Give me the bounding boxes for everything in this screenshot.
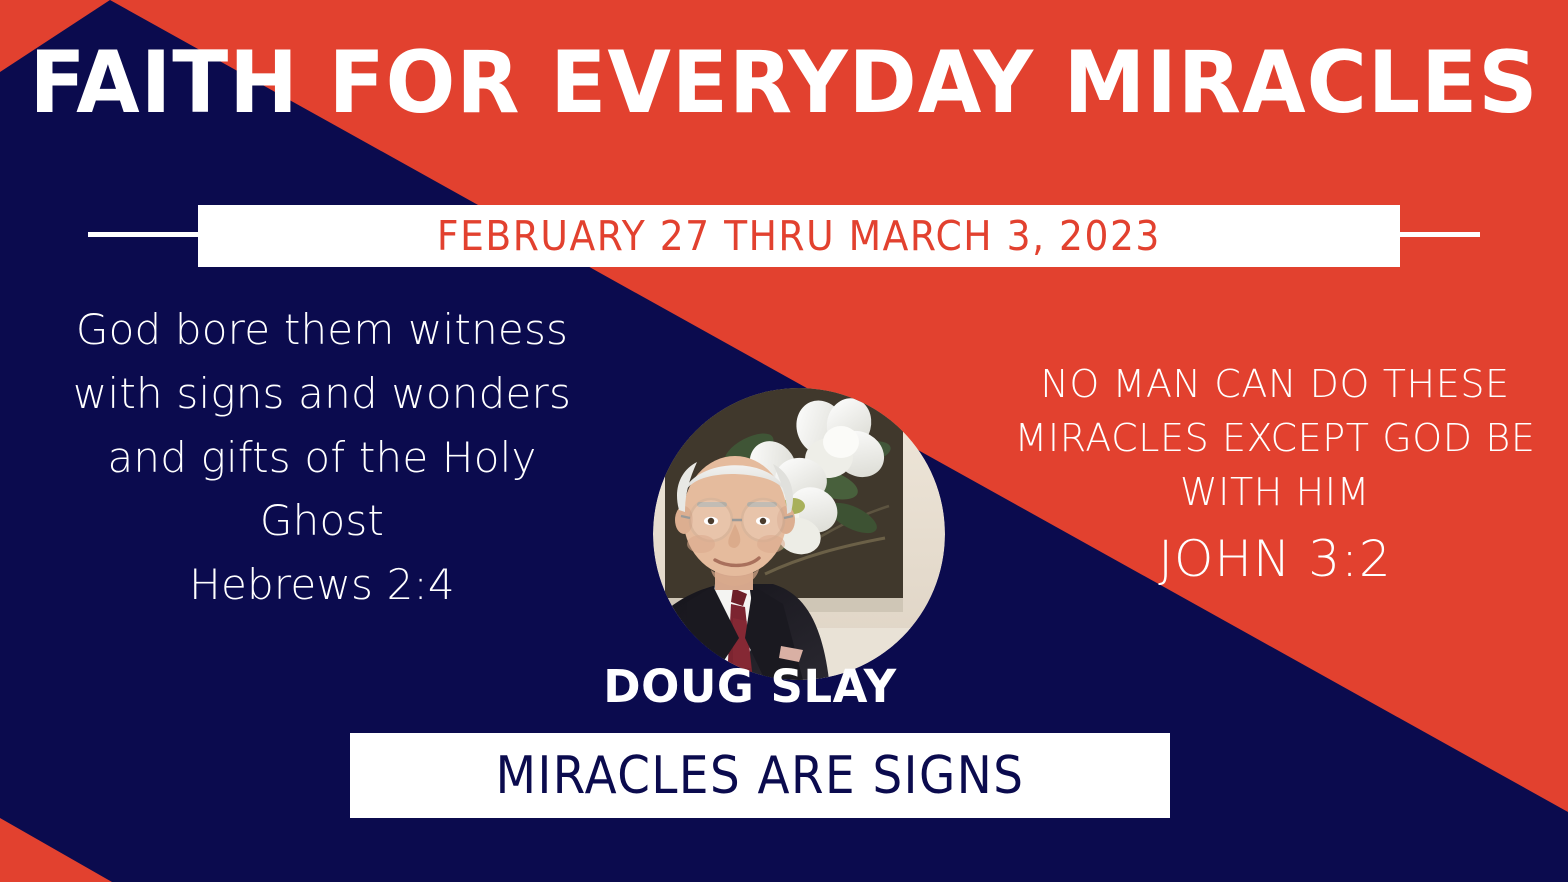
scripture-left-quote: God bore them witness with signs and won… <box>73 305 571 545</box>
date-banner-text: FEBRUARY 27 THRU MARCH 3, 2023 <box>437 212 1161 260</box>
speaker-name: DOUG SLAY <box>560 660 940 713</box>
speaker-portrait <box>653 388 945 680</box>
page-title: FAITH FOR EVERYDAY MIRACLES <box>0 38 1568 128</box>
scripture-left-reference: Hebrews 2:4 <box>72 553 572 617</box>
date-banner: FEBRUARY 27 THRU MARCH 3, 2023 <box>198 205 1400 267</box>
scripture-left: God bore them witness with signs and won… <box>72 298 572 617</box>
topic-banner: MIRACLES ARE SIGNS <box>350 733 1170 818</box>
event-flyer: FAITH FOR EVERYDAY MIRACLES FEBRUARY 27 … <box>0 0 1568 882</box>
banner-rule-left <box>88 232 200 237</box>
scripture-right-reference: JOHN 3:2 <box>990 524 1560 595</box>
banner-rule-right <box>1398 232 1480 237</box>
speaker-photo-illustration <box>653 388 945 680</box>
topic-banner-text: MIRACLES ARE SIGNS <box>496 746 1025 806</box>
scripture-right-quote: NO MAN CAN DO THESE MIRACLES EXCEPT GOD … <box>1015 362 1536 514</box>
scripture-right: NO MAN CAN DO THESE MIRACLES EXCEPT GOD … <box>990 358 1560 595</box>
